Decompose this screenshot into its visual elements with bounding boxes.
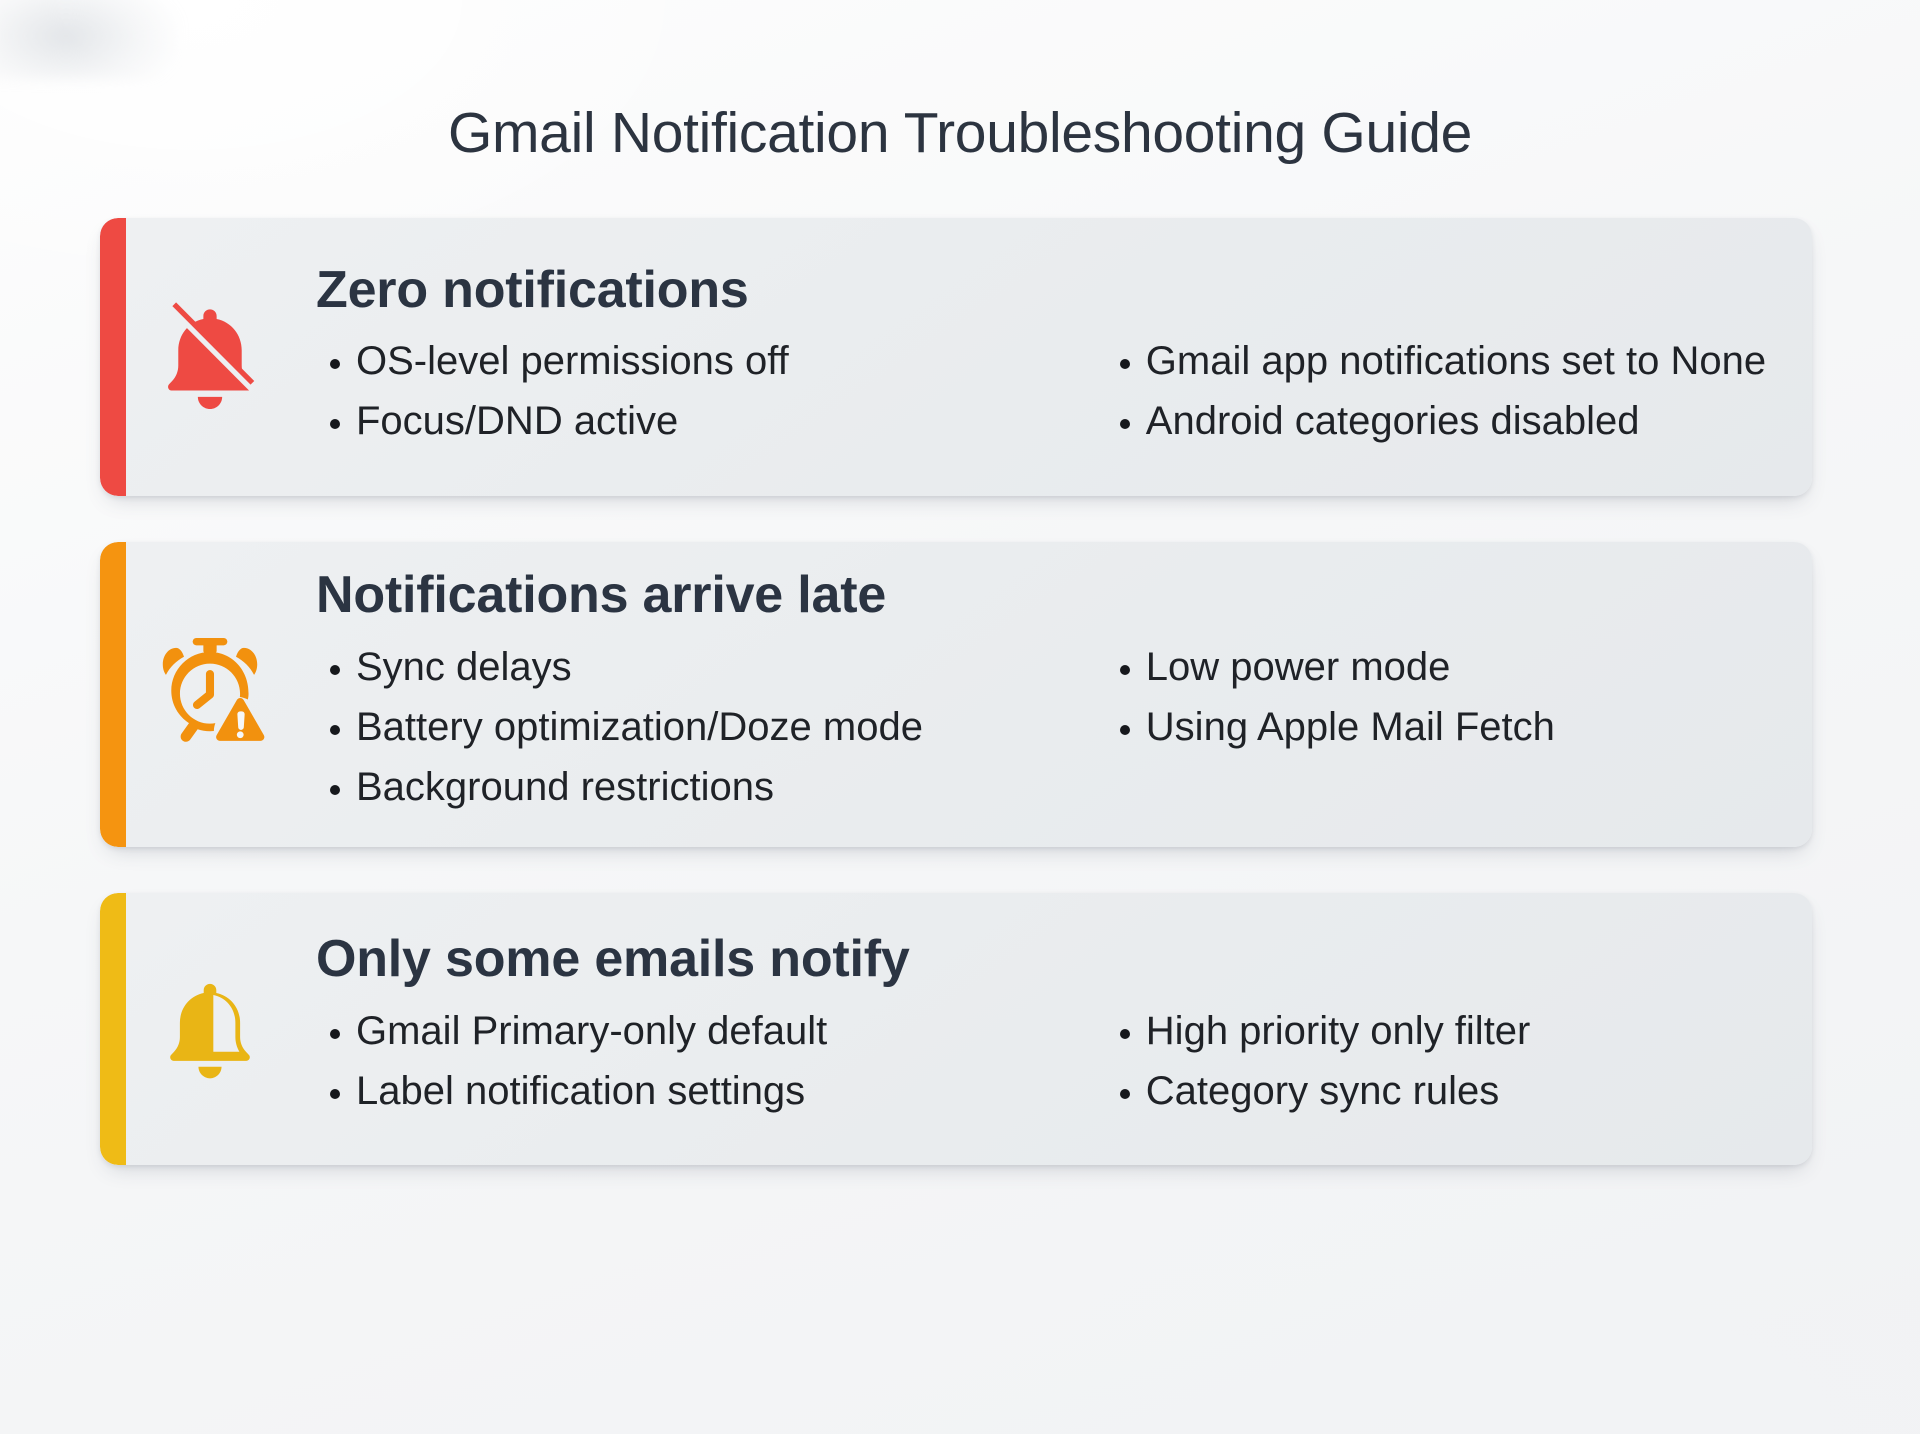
- card-list: Zero notifications OS-level permissions …: [100, 218, 1812, 1165]
- bullet-list: OS-level permissions off Focus/DND activ…: [316, 335, 1096, 447]
- bullets-left-column: OS-level permissions off Focus/DND activ…: [302, 335, 1096, 447]
- list-item: Android categories disabled: [1106, 395, 1772, 447]
- card-heading: Zero notifications: [316, 263, 1772, 318]
- bullets-left-column: Sync delays Battery optimization/Doze mo…: [302, 641, 1096, 813]
- bullets-right-column: Low power mode Using Apple Mail Fetch: [1096, 641, 1772, 753]
- bullet-list: Gmail Primary-only default Label notific…: [316, 1005, 1096, 1117]
- list-item: Gmail app notifications set to None: [1106, 335, 1772, 387]
- list-item: Gmail Primary-only default: [316, 1005, 1096, 1057]
- card-some-emails-notify: Only some emails notify Gmail Primary-on…: [100, 893, 1812, 1165]
- card-body: Zero notifications OS-level permissions …: [294, 233, 1812, 482]
- bullet-columns: Sync delays Battery optimization/Doze mo…: [302, 641, 1772, 813]
- bullet-list: Sync delays Battery optimization/Doze mo…: [316, 641, 1096, 813]
- card-heading: Notifications arrive late: [316, 568, 1772, 623]
- list-item: Battery optimization/Doze mode: [316, 701, 1096, 753]
- bullet-list: Gmail app notifications set to None Andr…: [1106, 335, 1772, 447]
- bullet-list: High priority only filter Category sync …: [1106, 1005, 1772, 1117]
- card-accent-bar: [100, 893, 126, 1165]
- bullets-right-column: Gmail app notifications set to None Andr…: [1096, 335, 1772, 447]
- card-body: Only some emails notify Gmail Primary-on…: [294, 906, 1812, 1151]
- card-accent-bar: [100, 218, 126, 496]
- list-item: High priority only filter: [1106, 1005, 1772, 1057]
- bullet-columns: Gmail Primary-only default Label notific…: [302, 1005, 1772, 1117]
- list-item: OS-level permissions off: [316, 335, 1096, 387]
- list-item: Background restrictions: [316, 761, 1096, 813]
- page-title: Gmail Notification Troubleshooting Guide: [0, 100, 1920, 166]
- card-accent-bar: [100, 542, 126, 847]
- bullets-right-column: High priority only filter Category sync …: [1096, 1005, 1772, 1117]
- list-item: Focus/DND active: [316, 395, 1096, 447]
- card-notifications-late: Notifications arrive late Sync delays Ba…: [100, 542, 1812, 847]
- list-item: Sync delays: [316, 641, 1096, 693]
- list-item: Category sync rules: [1106, 1065, 1772, 1117]
- card-zero-notifications: Zero notifications OS-level permissions …: [100, 218, 1812, 496]
- alarm-clock-warning-icon: [126, 635, 294, 753]
- corner-smudge-decoration: [0, 0, 180, 80]
- list-item: Using Apple Mail Fetch: [1106, 701, 1772, 753]
- card-body: Notifications arrive late Sync delays Ba…: [294, 542, 1812, 847]
- bullet-columns: OS-level permissions off Focus/DND activ…: [302, 335, 1772, 447]
- card-heading: Only some emails notify: [316, 932, 1772, 987]
- list-item: Label notification settings: [316, 1065, 1096, 1117]
- bell-slash-icon: [126, 295, 294, 419]
- bell-icon: [126, 970, 294, 1088]
- list-item: Low power mode: [1106, 641, 1772, 693]
- bullet-list: Low power mode Using Apple Mail Fetch: [1106, 641, 1772, 753]
- bullets-left-column: Gmail Primary-only default Label notific…: [302, 1005, 1096, 1117]
- infographic-root: Gmail Notification Troubleshooting Guide…: [0, 0, 1920, 1434]
